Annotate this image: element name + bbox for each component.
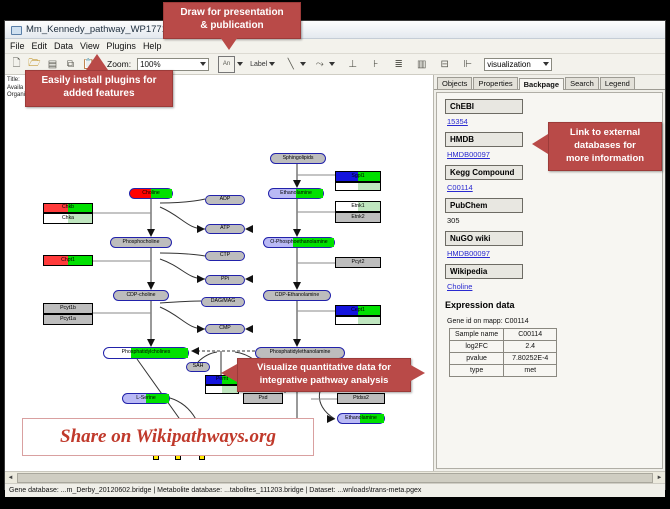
callout-plugins: Easily install plugins for added feature…	[25, 70, 173, 107]
menu-item-data[interactable]: Data	[54, 41, 73, 51]
pathway-node[interactable]: PPi	[205, 275, 245, 285]
db-link-kegg[interactable]: C00114	[447, 183, 662, 192]
callout-links-arrow	[532, 134, 548, 154]
table-cell: type	[450, 365, 504, 377]
db-link-wikipedia[interactable]: Choline	[447, 282, 662, 291]
expression-data-title: Expression data	[445, 300, 662, 310]
pathway-canvas[interactable]: Title: Availa Organi	[5, 75, 434, 471]
gene-node[interactable]: Cept1	[335, 305, 381, 316]
node-label: Psd	[259, 396, 268, 401]
status-bar: Gene database: ...m_Derby_20120602.bridg…	[5, 483, 665, 497]
chevron-down-icon	[300, 62, 306, 66]
font-tool[interactable]: An	[218, 56, 243, 73]
pathway-node[interactable]: O-Phosphoethanolamine	[263, 237, 335, 248]
node-label: DAG/MAG	[211, 299, 236, 304]
node-label: CDP-choline	[126, 293, 155, 298]
scroll-left-icon[interactable]: ◄	[5, 473, 16, 483]
pathway-node[interactable]: ADP	[205, 195, 245, 205]
table-cell: Sample name	[450, 329, 504, 341]
node-label: CMP	[219, 326, 231, 331]
gene-node[interactable]	[335, 182, 381, 191]
expression-table: Sample name C00114 log2FC 2.4 pvalue 7.8…	[449, 328, 557, 377]
side-panel-tabs: Objects Properties Backpage Search Legen…	[434, 75, 665, 90]
gene-node[interactable]: Etnk1	[335, 201, 381, 212]
chevron-down-icon	[543, 62, 549, 66]
align-center-icon[interactable]: ⊥	[345, 57, 360, 72]
tab-search[interactable]: Search	[565, 77, 599, 89]
gene-node[interactable]: Chka	[43, 213, 93, 224]
stack-icon[interactable]: ⊟	[437, 57, 452, 72]
callout-draw-arrow	[218, 34, 240, 50]
tab-objects[interactable]: Objects	[437, 77, 472, 89]
gene-node[interactable]	[335, 316, 381, 325]
table-cell: pvalue	[450, 353, 504, 365]
app-icon	[10, 24, 21, 35]
pathway-node[interactable]: L-Serine	[122, 393, 170, 404]
gene-node[interactable]: Etnk2	[335, 212, 381, 223]
pathway-node[interactable]: DAG/MAG	[201, 297, 245, 307]
node-label: Pcyt1b	[60, 306, 76, 311]
table-cell: met	[504, 365, 557, 377]
node-label: Phosphatidylethanolamine	[270, 350, 331, 355]
callout-share: Share on Wikipathways.org	[22, 418, 314, 456]
label-tool-text: Label	[250, 61, 267, 68]
status-text: Gene database: ...m_Derby_20120602.bridg…	[9, 487, 421, 494]
pathway-node[interactable]: CTP	[205, 251, 245, 261]
table-cell: C00114	[504, 329, 557, 341]
align-left-icon[interactable]: ⊦	[368, 57, 383, 72]
db-name-nugo: NuGO wiki	[445, 231, 523, 246]
node-label: Sgpl1	[351, 174, 364, 179]
node-label: ADP	[220, 197, 231, 202]
pathway-node[interactable]: Ethanolamine	[337, 413, 385, 424]
db-name-wikipedia: Wikipedia	[445, 264, 523, 279]
gene-id-line: Gene id on mapp: C00114	[447, 318, 662, 325]
new-icon[interactable]: 🗋	[9, 57, 24, 72]
chevron-down-icon	[237, 62, 243, 66]
pathway-node[interactable]: SAH	[186, 362, 210, 372]
gene-node[interactable]: Ptdss2	[337, 393, 385, 404]
db-name-chebi: ChEBI	[445, 99, 523, 114]
table-row: type met	[450, 365, 557, 377]
callout-visualize: Visualize quantitative data for integrat…	[237, 358, 411, 392]
connector-tool[interactable]: ⤳	[312, 57, 335, 72]
menu-item-help[interactable]: Help	[143, 41, 162, 51]
menu-item-edit[interactable]: Edit	[32, 41, 48, 51]
line-icon: ╲	[283, 57, 298, 72]
callout-plugins-arrow	[86, 54, 108, 70]
node-fill-right	[358, 317, 380, 324]
node-label: Choline	[142, 191, 160, 196]
gene-node[interactable]: Chkb	[43, 203, 93, 213]
horizontal-scrollbar[interactable]: ◄ ►	[5, 471, 665, 483]
pathway-node[interactable]: Choline	[129, 188, 173, 199]
db-name-kegg: Kegg Compound	[445, 165, 523, 180]
zoom-label: Zoom:	[107, 59, 131, 69]
node-label: O-Phosphoethanolamine	[270, 240, 327, 245]
pathway-node[interactable]: CMP	[205, 324, 245, 334]
node-label: Chkb	[62, 205, 74, 210]
scroll-right-icon[interactable]: ►	[654, 473, 665, 483]
table-cell: log2FC	[450, 341, 504, 353]
connector-icon: ⤳	[312, 57, 327, 72]
db-name-hmdb: HMDB	[445, 132, 523, 147]
node-label: Ethanolamine	[345, 416, 377, 421]
line-tool[interactable]: ╲	[283, 57, 306, 72]
db-link-nugo[interactable]: HMDB00097	[447, 249, 662, 258]
scroll-thumb[interactable]	[17, 473, 653, 483]
node-label: CTP	[220, 253, 230, 258]
node-label: L-Serine	[136, 396, 156, 401]
menu-item-view[interactable]: View	[80, 41, 99, 51]
tab-backpage[interactable]: Backpage	[519, 78, 564, 90]
pathway-node[interactable]: CDP-Ethanolamine	[263, 290, 331, 301]
node-label: Chka	[62, 216, 74, 221]
zoom-value: 100%	[140, 60, 160, 69]
callout-visualize-arrow-right	[409, 364, 425, 382]
node-label: Chpt1	[61, 258, 75, 263]
node-label: Ethanolamine	[280, 191, 312, 196]
gene-node[interactable]: Chpt1	[43, 255, 93, 266]
chevron-down-icon	[269, 62, 275, 66]
title-bar: Mm_Kennedy_pathway_WP1771_45176.gpml	[5, 21, 665, 39]
chevron-down-icon	[200, 62, 206, 66]
pathway-node[interactable]: Phosphocholine	[110, 237, 172, 248]
same-width-icon[interactable]: ▥	[414, 57, 429, 72]
chevron-down-icon	[329, 62, 335, 66]
menu-bar: File Edit Data View Plugins Help	[5, 39, 665, 54]
visualization-value: visualization	[487, 60, 531, 69]
node-label: Pcyt2	[352, 260, 365, 265]
node-label: CDP-Ethanolamine	[275, 293, 319, 298]
node-fill-right	[358, 183, 380, 190]
gene-node[interactable]: Pcyt1b	[43, 303, 93, 314]
node-label: Cept1	[351, 308, 365, 313]
pathway-node[interactable]: ATP	[205, 224, 245, 234]
menu-item-plugins[interactable]: Plugins	[106, 41, 136, 51]
node-label: Phosphocholine	[123, 240, 160, 245]
pathway-node[interactable]: Ethanolamine	[268, 188, 324, 199]
label-tool[interactable]: Label	[250, 61, 275, 68]
gene-node[interactable]: Sgpl1	[335, 171, 381, 182]
table-row: log2FC 2.4	[450, 341, 557, 353]
table-row: pvalue 7.80252E-4	[450, 353, 557, 365]
pathway-node[interactable]: CDP-choline	[113, 290, 169, 301]
node-label: Sphingolipids	[283, 156, 314, 161]
callout-links: Link to external databases for more info…	[548, 122, 662, 171]
tab-legend[interactable]: Legend	[600, 77, 635, 89]
db-value-pubchem: 305	[447, 216, 662, 225]
table-cell: 7.80252E-4	[504, 353, 557, 365]
menu-item-file[interactable]: File	[10, 41, 25, 51]
pathway-node[interactable]: Phosphatidylcholines	[103, 347, 189, 359]
node-label: Ptdss2	[353, 396, 369, 401]
table-cell: 2.4	[504, 341, 557, 353]
gene-node[interactable]: Pcyt2	[335, 257, 381, 268]
node-label: Etnk1	[351, 204, 364, 209]
node-label: ATP	[220, 226, 230, 231]
node-label: Pcyt1a	[60, 317, 76, 322]
node-fill-right	[222, 386, 238, 393]
tab-properties[interactable]: Properties	[473, 77, 517, 89]
pathway-edges	[5, 75, 433, 471]
zoom-select[interactable]: 100%	[137, 58, 209, 71]
node-label: SAH	[193, 364, 204, 369]
node-label: Etnk2	[351, 215, 364, 220]
distribute-icon[interactable]: ≣	[391, 57, 406, 72]
node-label: Phosphatidylcholines	[122, 350, 171, 355]
pathway-node[interactable]: Sphingolipids	[270, 153, 326, 164]
visualization-select[interactable]: visualization	[484, 58, 552, 71]
order-icon[interactable]: ⊩	[460, 57, 475, 72]
gene-node[interactable]	[205, 385, 239, 394]
callout-visualize-arrow-left	[221, 364, 237, 382]
font-icon: An	[218, 56, 235, 73]
db-name-pubchem: PubChem	[445, 198, 523, 213]
gene-node[interactable]: Pcyt1a	[43, 314, 93, 325]
node-label: PPi	[221, 277, 229, 282]
gene-node[interactable]: Psd	[243, 393, 283, 404]
table-row: Sample name C00114	[450, 329, 557, 341]
